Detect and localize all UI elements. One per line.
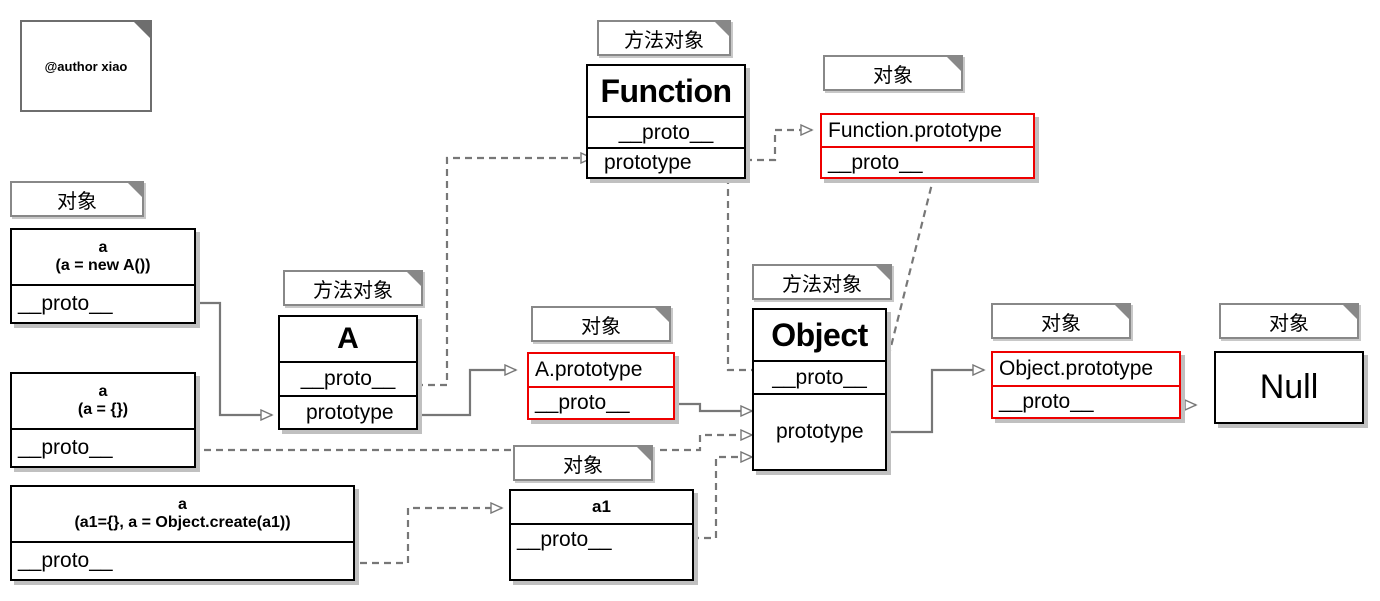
node-title-text: A.prototype <box>535 358 642 382</box>
node-title-text: Function.prototype <box>828 119 1002 143</box>
node-Object[interactable]: Object __proto__ prototype <box>752 308 887 471</box>
field-label: __proto__ <box>828 151 923 175</box>
node-Object-prototype[interactable]: Object.prototype __proto__ <box>991 351 1181 419</box>
node-subtitle-text: (a = {}) <box>78 401 128 419</box>
stereotype-note-Object: 方法对象 <box>752 264 892 300</box>
node-title: A.prototype <box>529 354 673 386</box>
stereotype-note-Function-prototype: 对象 <box>823 55 963 91</box>
node-title-text: Null <box>1260 368 1319 407</box>
node-title-text: a1 <box>592 497 611 517</box>
node-field-proto[interactable]: __proto__ <box>12 284 194 322</box>
node-field-proto[interactable]: __proto__ <box>280 361 416 395</box>
node-field-proto[interactable]: __proto__ <box>754 360 885 393</box>
stereotype-note-A-prototype: 对象 <box>531 306 671 342</box>
field-label: prototype <box>604 151 692 175</box>
field-label: __proto__ <box>772 366 867 390</box>
field-label: prototype <box>306 401 394 425</box>
edge-Function-prototype-to-Functionprototype <box>745 130 812 160</box>
stereotype-note-Function: 方法对象 <box>597 20 731 56</box>
stereotype-label: 方法对象 <box>624 24 704 53</box>
node-title-text: a <box>178 496 187 514</box>
node-Null[interactable]: Null <box>1214 351 1364 424</box>
edge-Object-prototype-to-Objectprototype <box>884 370 984 432</box>
node-title-text: Object.prototype <box>999 357 1153 381</box>
stereotype-label: 方法对象 <box>782 268 862 297</box>
note-fold-icon <box>126 181 144 199</box>
stereotype-note-Object-prototype: 对象 <box>991 303 1131 339</box>
node-A[interactable]: A __proto__ prototype <box>278 315 418 430</box>
node-field-proto[interactable]: __proto__ <box>993 385 1179 417</box>
node-title: Function <box>588 66 744 116</box>
node-title: Null <box>1216 353 1362 422</box>
author-note: @author xiao <box>20 20 152 112</box>
node-a-create[interactable]: a (a1={}, a = Object.create(a1)) __proto… <box>10 485 355 581</box>
field-label: __proto__ <box>517 528 612 552</box>
node-field-proto[interactable]: __proto__ <box>588 116 744 147</box>
node-title-text: a <box>99 239 108 257</box>
note-fold-icon <box>653 306 671 324</box>
note-fold-icon <box>1113 303 1131 321</box>
stereotype-label: 对象 <box>1041 307 1081 336</box>
stereotype-note-A: 方法对象 <box>283 270 423 306</box>
node-A-prototype[interactable]: A.prototype __proto__ <box>527 352 675 420</box>
node-field-proto[interactable]: __proto__ <box>529 386 673 418</box>
node-title: A <box>280 317 416 361</box>
note-fold-icon <box>405 270 423 288</box>
node-field-prototype[interactable]: prototype <box>754 393 885 469</box>
node-title-text: Function <box>600 73 731 110</box>
stereotype-note-a-new-A: 对象 <box>10 181 144 217</box>
stereotype-label: 方法对象 <box>313 274 393 303</box>
node-title: a (a = new A()) <box>12 230 194 284</box>
node-field-proto[interactable]: __proto__ <box>12 541 353 579</box>
stereotype-note-a1: 对象 <box>513 445 653 481</box>
node-subtitle-text: (a1={}, a = Object.create(a1)) <box>74 514 290 532</box>
node-field-empty <box>511 554 692 579</box>
field-label: __proto__ <box>18 292 113 316</box>
note-fold-icon <box>945 55 963 73</box>
note-fold-icon <box>1341 303 1359 321</box>
stereotype-label: 对象 <box>57 185 97 214</box>
node-Function[interactable]: Function __proto__ prototype <box>586 64 746 179</box>
node-field-proto[interactable]: __proto__ <box>511 523 692 554</box>
stereotype-note-Null: 对象 <box>1219 303 1359 339</box>
node-title-text: Object <box>771 317 868 354</box>
field-label: __proto__ <box>18 549 113 573</box>
node-title: a (a = {}) <box>12 374 194 428</box>
stereotype-label: 对象 <box>1269 307 1309 336</box>
node-a-new-A[interactable]: a (a = new A()) __proto__ <box>10 228 196 324</box>
node-title: a (a1={}, a = Object.create(a1)) <box>12 487 353 541</box>
stereotype-label: 对象 <box>873 59 913 88</box>
edge-a-literal-proto-to-Object <box>120 435 752 450</box>
node-title: Function.prototype <box>822 115 1033 146</box>
stereotype-label: 对象 <box>581 310 621 339</box>
note-fold-icon <box>132 20 152 40</box>
node-field-proto[interactable]: __proto__ <box>12 428 194 466</box>
author-note-text: @author xiao <box>45 59 128 74</box>
node-field-prototype[interactable]: prototype <box>588 147 744 177</box>
node-field-proto[interactable]: __proto__ <box>822 146 1033 177</box>
node-subtitle-text: (a = new A()) <box>56 257 151 275</box>
edge-A-prototype-to-Aprototype-box <box>416 370 516 415</box>
field-label: __proto__ <box>301 367 396 391</box>
node-title-text: a <box>99 383 108 401</box>
node-a1[interactable]: a1 __proto__ <box>509 489 694 581</box>
diagram-canvas: @author xiao 对象 方法对象 方法对象 方法对象 对象 对象 对象 … <box>0 0 1380 601</box>
field-label: __proto__ <box>535 391 630 415</box>
stereotype-label: 对象 <box>563 449 603 478</box>
note-fold-icon <box>713 20 731 38</box>
node-title-text: A <box>337 322 359 356</box>
node-title: Object.prototype <box>993 353 1179 385</box>
node-a-literal[interactable]: a (a = {}) __proto__ <box>10 372 196 468</box>
edge-A-proto-to-Function-prototype <box>416 158 592 385</box>
field-label: __proto__ <box>18 436 113 460</box>
node-field-prototype[interactable]: prototype <box>280 395 416 428</box>
note-fold-icon <box>874 264 892 282</box>
field-label: __proto__ <box>619 121 714 145</box>
field-label: __proto__ <box>999 390 1094 414</box>
node-title: Object <box>754 310 885 360</box>
node-title: a1 <box>511 491 692 523</box>
note-fold-icon <box>635 445 653 463</box>
node-Function-prototype[interactable]: Function.prototype __proto__ <box>820 113 1035 179</box>
field-label: prototype <box>776 420 864 444</box>
